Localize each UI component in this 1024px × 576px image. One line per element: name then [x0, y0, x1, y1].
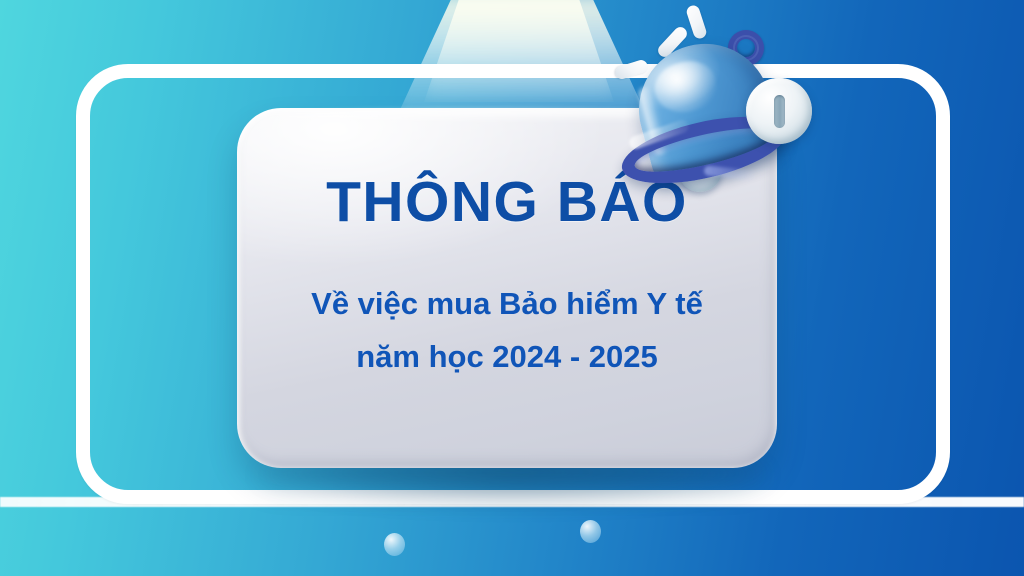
bell-ringing-motion-dash-3-icon: [614, 58, 649, 80]
subtitle-line-1: Về việc mua Bảo hiểm Y tế: [311, 277, 703, 330]
page-subtitle: Về việc mua Bảo hiểm Y tế năm học 2024 -…: [311, 277, 703, 384]
bell-badge-icon: [746, 78, 812, 144]
floating-bubble-2-icon: [580, 520, 601, 543]
subtitle-line-2: năm học 2024 - 2025: [311, 330, 703, 383]
floating-bubble-1-icon: [384, 533, 405, 556]
bell-badge-bar: [774, 95, 785, 128]
notification-poster: THÔNG BÁO Về việc mua Bảo hiểm Y tế năm …: [0, 0, 1024, 576]
bell-ringing-motion-dash-2-icon: [685, 4, 708, 40]
notification-bell-icon: [612, 0, 822, 202]
bell-dome-highlight: [649, 55, 722, 119]
